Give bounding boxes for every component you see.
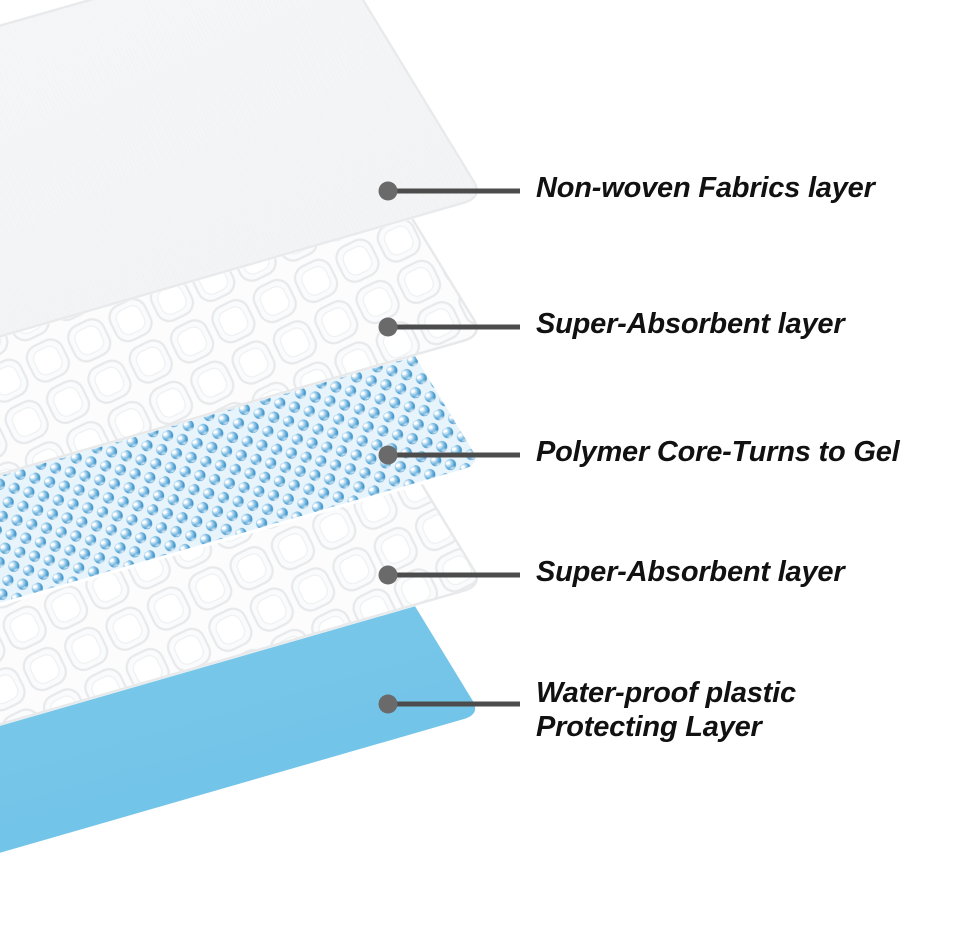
callout-label-water-proof-plastic: Water-proof plastic Protecting Layer (536, 676, 796, 744)
callout-label-polymer-core: Polymer Core-Turns to Gel (536, 435, 900, 469)
leader-dot (379, 446, 398, 465)
callout-polymer-core: Polymer Core-Turns to Gel (536, 435, 900, 469)
leader-dot (379, 182, 398, 201)
callout-water-proof-plastic: Water-proof plastic Protecting Layer (536, 676, 796, 744)
layered-product-diagram: Non-woven Fabrics layer Super-Absorbent … (0, 0, 976, 936)
callout-label-super-absorbent-top: Super-Absorbent layer (536, 307, 844, 341)
callout-label-non-woven-fabrics: Non-woven Fabrics layer (536, 171, 875, 205)
callout-non-woven-fabrics: Non-woven Fabrics layer (536, 171, 875, 205)
callout-label-super-absorbent-bottom: Super-Absorbent layer (536, 555, 844, 589)
callout-super-absorbent-top: Super-Absorbent layer (536, 307, 844, 341)
callout-super-absorbent-bottom: Super-Absorbent layer (536, 555, 844, 589)
leader-dot (379, 318, 398, 337)
leader-dot (379, 695, 398, 714)
leader-dot (379, 566, 398, 585)
